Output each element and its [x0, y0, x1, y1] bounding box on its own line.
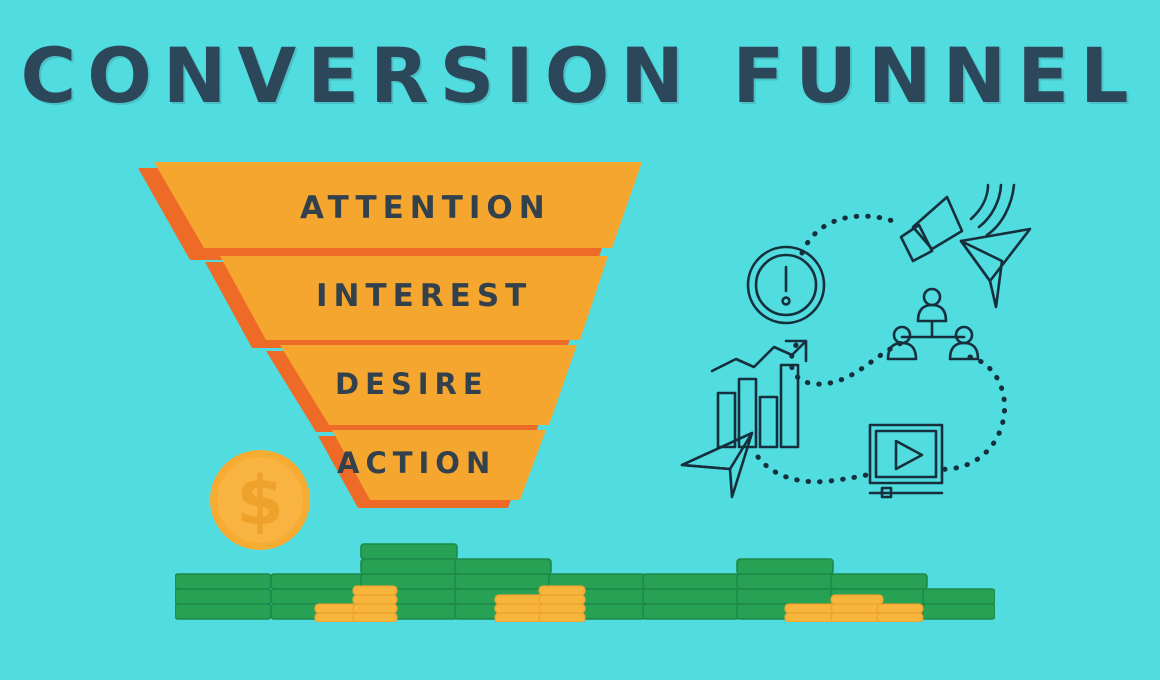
paper-plane-icon[interactable]: [961, 229, 1030, 307]
marketing-icon-cluster: [670, 175, 1050, 515]
money-stacks-graphic: [175, 528, 995, 622]
megaphone-icon[interactable]: [901, 185, 1014, 261]
funnel-stage-interest[interactable]: [205, 256, 608, 348]
funnel-stage-desire[interactable]: [266, 345, 577, 432]
people-network-icon[interactable]: [888, 289, 978, 359]
funnel-stage-action[interactable]: [318, 430, 546, 508]
money-stacks: [175, 528, 995, 622]
icon-cluster-graphic: [670, 175, 1050, 515]
funnel-stage-interest-face: [220, 256, 608, 340]
funnel-stage-attention-face: [154, 162, 642, 248]
page-title: CONVERSION FUNNEL: [0, 38, 1160, 114]
funnel-stage-attention[interactable]: [138, 162, 642, 260]
funnel-stage-desire-face: [280, 345, 577, 425]
alert-circle-icon[interactable]: [748, 247, 824, 323]
infographic-canvas: CONVERSION FUNNEL ATTE: [0, 0, 1160, 680]
video-player-icon[interactable]: [870, 425, 942, 497]
